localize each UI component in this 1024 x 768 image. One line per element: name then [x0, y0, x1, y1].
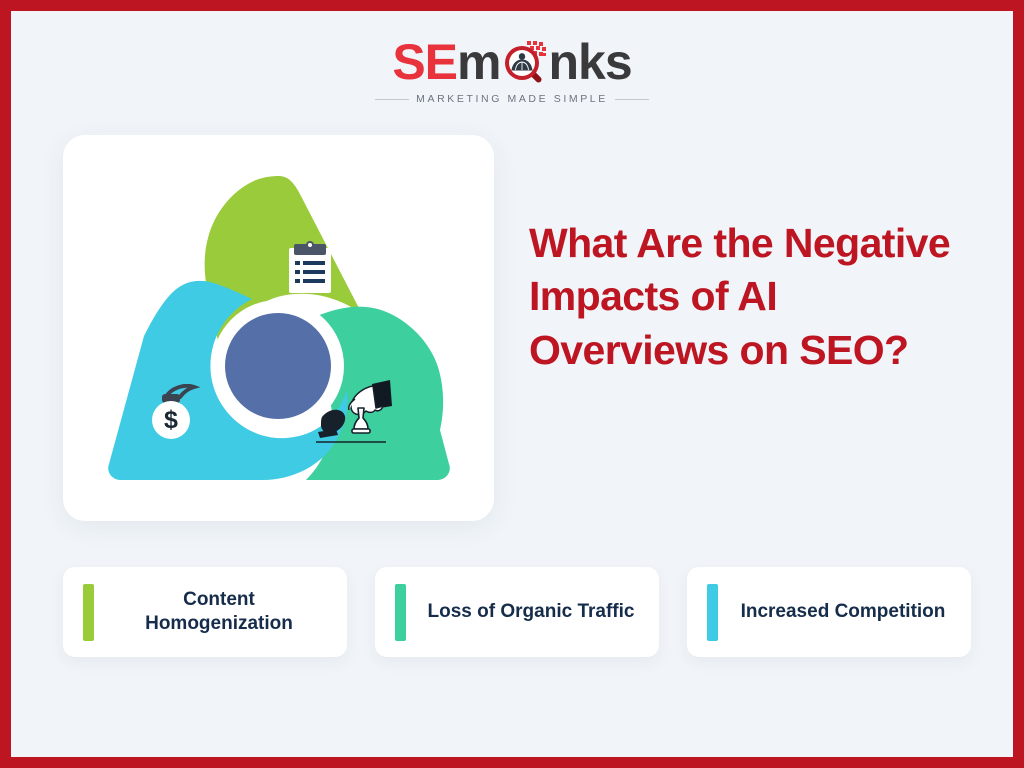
card-accent-bar	[707, 584, 718, 641]
card-accent-bar	[395, 584, 406, 641]
svg-text:$: $	[164, 406, 178, 434]
brand-logo: SE m	[11, 37, 1013, 105]
page-title: What Are the Negative Impacts of AI Over…	[529, 217, 981, 377]
tagline-rule-right	[615, 99, 649, 100]
magnifying-glass-monk-icon	[502, 39, 548, 85]
logo-tagline: MARKETING MADE SIMPLE	[416, 93, 608, 105]
hand-chess-piece-icon	[314, 372, 394, 448]
fact-card-loss-of-organic-traffic[interactable]: Loss of Organic Traffic	[375, 567, 659, 657]
fact-card-label: Loss of Organic Traffic	[375, 600, 659, 624]
poster-canvas: SE m	[11, 11, 1013, 757]
logo-text-m: m	[457, 37, 500, 87]
clipboard-checklist-icon	[288, 241, 332, 294]
fact-card-label: Content Homogenization	[63, 588, 347, 636]
triangular-pinwheel-illustration: $	[100, 168, 458, 488]
card-accent-bar	[83, 584, 94, 641]
fact-card-content-homogenization[interactable]: Content Homogenization	[63, 567, 347, 657]
money-bag-dollar-icon: $	[142, 384, 206, 440]
fact-card-label: Increased Competition	[687, 600, 971, 624]
hero-illustration-card: $	[63, 135, 494, 521]
logo-wordmark: SE m	[392, 37, 631, 87]
logo-text-se: SE	[392, 37, 457, 87]
logo-text-nks: nks	[549, 37, 632, 87]
fact-card-increased-competition[interactable]: Increased Competition	[687, 567, 971, 657]
tagline-rule-left	[375, 99, 409, 100]
logo-tagline-row: MARKETING MADE SIMPLE	[375, 93, 649, 105]
fact-card-row: Content Homogenization Loss of Organic T…	[63, 567, 971, 657]
poster-frame: SE m	[0, 0, 1024, 768]
